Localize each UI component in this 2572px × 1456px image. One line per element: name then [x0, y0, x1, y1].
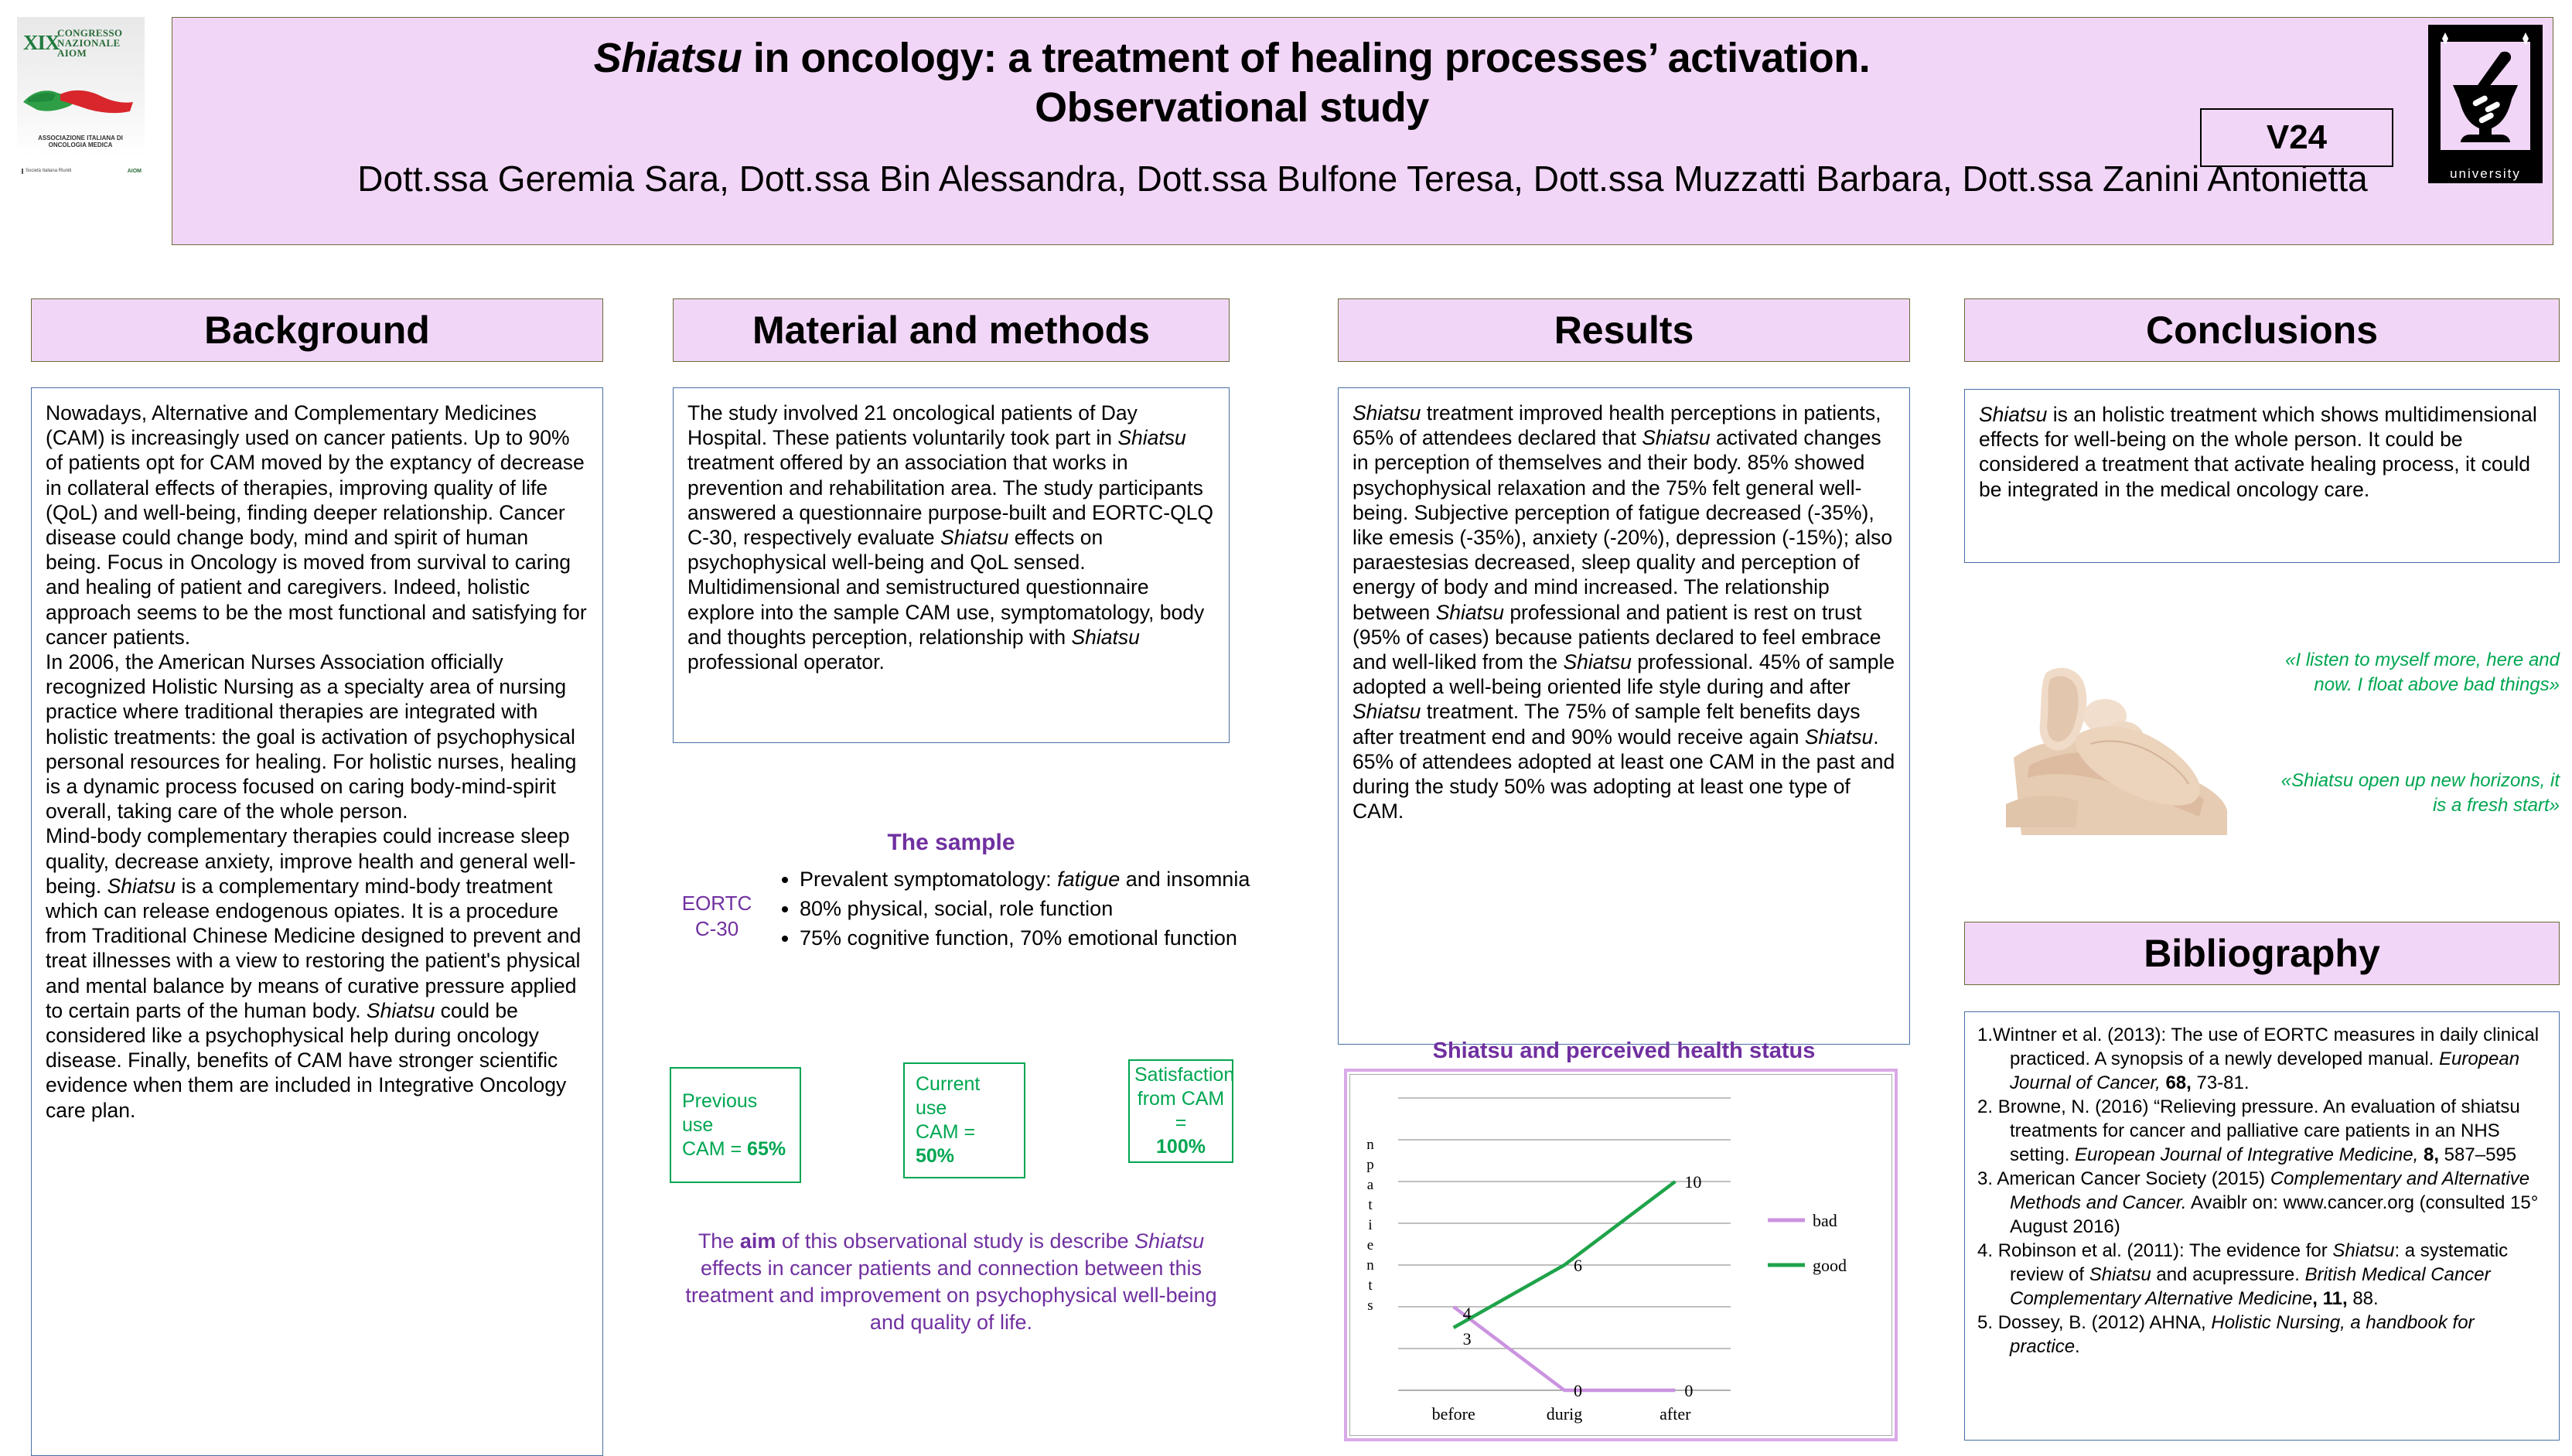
- congress-logo-footer-left: Società Italiana Riuniti: [22, 169, 71, 174]
- italy-map-icon: [17, 79, 145, 119]
- results-shiatsu-6: Shiatsu: [1805, 725, 1873, 748]
- university-logo: university: [2428, 25, 2543, 183]
- aim-pre: The: [698, 1229, 740, 1253]
- sample-bullet-list: Prevalent symptomatology: fatigue and in…: [773, 864, 1256, 953]
- patient-quote-2: «Shiatsu open up new horizons, it is a f…: [2266, 769, 2560, 818]
- ref-1-num: 1.: [1977, 1025, 1993, 1045]
- bullet-1-italic: fatigue: [1057, 868, 1120, 891]
- chart-y-axis-label: npatients: [1361, 1135, 1380, 1316]
- congress-logo-footer: Società Italiana Riuniti AIOM: [22, 169, 142, 175]
- reference-item: 2. Browne, N. (2016) “Relieving pressure…: [1977, 1095, 2543, 1167]
- section-results-header: Results: [1338, 298, 1910, 362]
- results-b: activated changes in perception of thems…: [1353, 426, 1892, 623]
- conclusions-rest: is an holistic treatment which shows mul…: [1979, 403, 2537, 501]
- ref-2-volume: 8,: [2418, 1144, 2439, 1165]
- section-methods: Material and methods The study involved …: [673, 298, 1230, 743]
- mortar-and-pestle-icon: [2441, 42, 2530, 150]
- list-item: 75% cognitive function, 70% emotional fu…: [800, 923, 1256, 953]
- page-title: Shiatsu in oncology: a treatment of heal…: [265, 33, 2198, 132]
- svg-text:0: 0: [1574, 1381, 1582, 1400]
- ref-5-pre: Dossey, B. (2012) AHNA,: [1998, 1312, 2212, 1333]
- section-bibliography-header: Bibliography: [1964, 922, 2560, 985]
- aim-shiatsu: Shiatsu: [1134, 1229, 1204, 1253]
- cam-satisfaction-label: Satisfaction: [1134, 1063, 1227, 1087]
- congress-logo: XIX CONGRESSO NAZIONALE AIOM ASSOCIAZION…: [17, 17, 145, 249]
- conclusions-paragraph: Shiatsu is an holistic treatment which s…: [1979, 402, 2545, 502]
- background-p3-shiatsu-2: Shiatsu: [367, 999, 435, 1022]
- poster-number-badge: V24: [2200, 108, 2393, 167]
- ref-2-journal: European Journal of Integrative Medicine…: [2075, 1144, 2418, 1165]
- section-results: Results Shiatsu treatment improved healt…: [1338, 298, 1910, 1045]
- ref-4-pre: Robinson et al. (2011): The evidence for: [1998, 1240, 2333, 1261]
- title-bar: Shiatsu in oncology: a treatment of heal…: [172, 17, 2553, 245]
- section-methods-header: Material and methods: [673, 298, 1230, 362]
- congress-logo-footer-right: AIOM: [128, 169, 142, 175]
- congress-logo-subtitle: ASSOCIAZIONE ITALIANA DI ONCOLOGIA MEDIC…: [26, 135, 135, 148]
- eortc-label-line2: C-30: [667, 916, 767, 942]
- methods-p1-a: The study involved 21 oncological patien…: [687, 401, 1138, 449]
- results-e: treatment. The 75% of sample felt benefi…: [1353, 700, 1860, 748]
- background-paragraph-3: Mind-body complementary therapies could …: [46, 823, 588, 1122]
- page-title-rest: in oncology: a treatment of healing proc…: [742, 35, 1870, 81]
- bullet-2: 80% physical, social, role function: [800, 897, 1113, 920]
- bullet-3: 75% cognitive function, 70% emotional fu…: [800, 926, 1237, 950]
- background-p3-shiatsu-1: Shiatsu: [107, 875, 176, 898]
- methods-paragraph-1: The study involved 21 oncological patien…: [687, 401, 1215, 575]
- methods-paragraph-2: Multidimensional and semistructured ques…: [687, 575, 1215, 674]
- svg-text:durig: durig: [1547, 1404, 1582, 1424]
- chart-svg: 4003610beforedurigafterbadgood: [1350, 1075, 1893, 1438]
- svg-text:4: 4: [1463, 1304, 1472, 1323]
- results-paragraph: Shiatsu treatment improved health percep…: [1353, 401, 1895, 823]
- results-shiatsu-5: Shiatsu: [1353, 700, 1421, 723]
- ref-4-shiatsu-2: Shiatsu: [2089, 1264, 2151, 1285]
- bullet-1-pre: Prevalent symptomatology:: [800, 868, 1057, 891]
- page-title-line2: Observational study: [1035, 84, 1429, 131]
- patient-quote-1: «I listen to myself more, here and now. …: [2281, 648, 2560, 697]
- page-title-keyword: Shiatsu: [594, 35, 742, 81]
- cam-box-satisfaction: Satisfaction from CAM = 100%: [1128, 1059, 1233, 1163]
- reference-item: 5. Dossey, B. (2012) AHNA, Holistic Nurs…: [1977, 1311, 2543, 1359]
- svg-text:6: 6: [1574, 1256, 1582, 1275]
- section-background-header: Background: [31, 298, 603, 362]
- svg-text:good: good: [1813, 1256, 1847, 1275]
- ref-4-volume: , 11,: [2312, 1288, 2347, 1309]
- background-paragraph-2: In 2006, the American Nurses Association…: [46, 650, 588, 823]
- results-shiatsu-2: Shiatsu: [1642, 426, 1710, 449]
- ref-2-pages: 587–595: [2439, 1144, 2516, 1165]
- hands-illustration-icon: [2006, 642, 2298, 840]
- chart-plot-frame: npatients 4003610beforedurigafterbadgood: [1349, 1074, 1892, 1436]
- eortc-label-line1: EORTC: [667, 891, 767, 916]
- aim-keyword: aim: [740, 1229, 776, 1253]
- results-shiatsu-4: Shiatsu: [1563, 650, 1631, 673]
- svg-text:3: 3: [1463, 1329, 1472, 1349]
- section-conclusions-body: Shiatsu is an holistic treatment which s…: [1964, 389, 2560, 563]
- section-results-body: Shiatsu treatment improved health percep…: [1338, 387, 1910, 1045]
- ref-1-volume: 68,: [2161, 1072, 2192, 1093]
- university-logo-frame: [2441, 42, 2530, 150]
- cam-previous-value: 65%: [747, 1138, 786, 1160]
- ref-4-num: 4.: [1977, 1240, 1998, 1261]
- cam-satisfaction-value: 100%: [1156, 1136, 1206, 1158]
- list-item: Prevalent symptomatology: fatigue and in…: [800, 864, 1256, 894]
- section-background: Background Nowadays, Alternative and Com…: [31, 298, 603, 1456]
- cam-current-value-row: CAM = 50%: [916, 1120, 1013, 1168]
- congress-logo-name: CONGRESSO NAZIONALE AIOM: [57, 28, 122, 58]
- author-list: Dott.ssa Geremia Sara, Dott.ssa Bin Ales…: [172, 157, 2553, 200]
- ref-4-mid: and acupressure.: [2151, 1264, 2305, 1285]
- reference-item: 3. American Cancer Society (2015) Comple…: [1977, 1167, 2543, 1239]
- list-item: 80% physical, social, role function: [800, 894, 1256, 923]
- results-shiatsu-1: Shiatsu: [1353, 401, 1421, 425]
- background-paragraph-1: Nowadays, Alternative and Complementary …: [46, 401, 588, 650]
- cam-current-label: Current use: [916, 1072, 1013, 1120]
- section-background-body: Nowadays, Alternative and Complementary …: [31, 387, 603, 1456]
- ref-5-num: 5.: [1977, 1312, 1998, 1333]
- methods-p2-b: professional operator.: [687, 650, 885, 673]
- svg-text:after: after: [1660, 1404, 1691, 1424]
- cam-current-prefix: CAM =: [916, 1121, 975, 1143]
- cam-previous-prefix: CAM =: [682, 1138, 747, 1160]
- cam-current-value: 50%: [916, 1145, 954, 1167]
- aim-mid: of this observational study is describe: [776, 1229, 1134, 1253]
- svg-text:0: 0: [1684, 1381, 1693, 1400]
- aim-post: effects in cancer patients and connectio…: [685, 1257, 1216, 1334]
- svg-text:bad: bad: [1813, 1211, 1837, 1230]
- ref-3-pre: American Cancer Society (2015): [1997, 1168, 2270, 1189]
- section-conclusions-header: Conclusions: [1964, 298, 2560, 362]
- section-bibliography-body: 1.Wintner et al. (2013): The use of EORT…: [1964, 1011, 2560, 1441]
- svg-text:before: before: [1432, 1404, 1475, 1424]
- methods-p1-shiatsu-1: Shiatsu: [1117, 426, 1185, 449]
- ref-3-num: 3.: [1977, 1168, 1997, 1189]
- cam-previous-value-row: CAM = 65%: [682, 1137, 789, 1161]
- chart-title: Shiatsu and perceived health status: [1338, 1038, 1910, 1064]
- hands-photo: [2006, 642, 2298, 840]
- section-methods-body: The study involved 21 oncological patien…: [673, 387, 1230, 743]
- eortc-label: EORTC C-30: [667, 891, 767, 942]
- poster-header: XIX CONGRESSO NAZIONALE AIOM ASSOCIAZION…: [0, 0, 2572, 267]
- ref-5-post: .: [2075, 1336, 2080, 1357]
- conclusions-shiatsu: Shiatsu: [1979, 403, 2047, 426]
- section-conclusions: Conclusions Shiatsu is an holistic treat…: [1964, 298, 2560, 563]
- ref-4-pages: 88.: [2348, 1288, 2379, 1309]
- results-shiatsu-3: Shiatsu: [1436, 601, 1504, 624]
- sample-subtitle: The sample: [673, 830, 1230, 856]
- cam-box-previous-use: Previous use CAM = 65%: [670, 1067, 801, 1183]
- reference-item: 1.Wintner et al. (2013): The use of EORT…: [1977, 1023, 2543, 1095]
- ref-4-shiatsu-1: Shiatsu: [2332, 1240, 2394, 1261]
- svg-text:10: 10: [1684, 1172, 1701, 1192]
- chart-container: npatients 4003610beforedurigafterbadgood: [1344, 1069, 1898, 1441]
- reference-item: 4. Robinson et al. (2011): The evidence …: [1977, 1239, 2543, 1311]
- ref-2-num: 2.: [1977, 1096, 1998, 1117]
- congress-logo-line3: AIOM: [57, 48, 122, 58]
- methods-p2-shiatsu: Shiatsu: [1071, 626, 1139, 649]
- cam-satisfaction-prefix: from CAM =: [1134, 1087, 1227, 1135]
- congress-logo-roman: XIX: [23, 31, 60, 55]
- bullet-1-post: and insomnia: [1120, 868, 1250, 891]
- cam-previous-label: Previous use: [682, 1089, 789, 1137]
- methods-p1-shiatsu-2: Shiatsu: [940, 526, 1008, 549]
- cam-box-current-use: Current use CAM = 50%: [903, 1062, 1025, 1178]
- study-aim-text: The aim of this observational study is d…: [670, 1228, 1233, 1336]
- ref-1-pages: 73-81.: [2192, 1072, 2250, 1093]
- university-logo-caption: university: [2428, 166, 2543, 182]
